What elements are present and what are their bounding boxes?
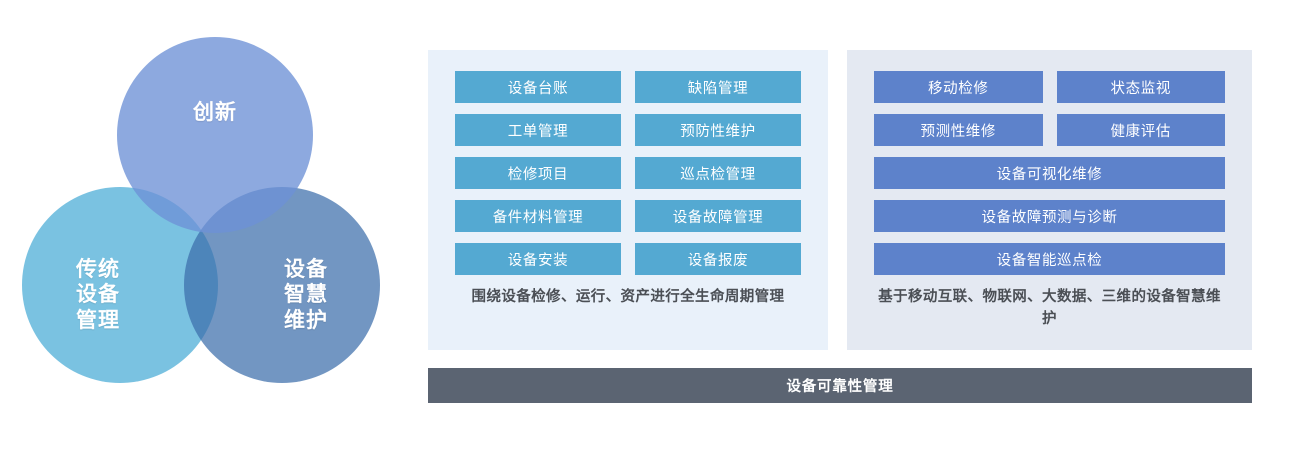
tile-row: 工单管理 预防性维护: [455, 114, 801, 146]
tile-work-order-management[interactable]: 工单管理: [455, 114, 621, 146]
tile-condition-monitoring[interactable]: 状态监视: [1057, 71, 1226, 103]
tile-row: 设备安装 设备报废: [455, 243, 801, 275]
tile-row: 设备故障预测与诊断: [874, 200, 1225, 232]
panel-caption-smart: 基于移动互联、物联网、大数据、三维的设备智慧维护: [874, 287, 1225, 331]
tile-overhaul-project[interactable]: 检修项目: [455, 157, 621, 189]
tile-row: 移动检修 状态监视: [874, 71, 1225, 103]
tile-spare-parts-material-management[interactable]: 备件材料管理: [455, 200, 621, 232]
venn-circle-label-innovation: 创新: [193, 100, 237, 126]
bottom-bar-equipment-reliability-management: 设备可靠性管理: [428, 368, 1252, 403]
tile-equipment-installation[interactable]: 设备安装: [455, 243, 621, 275]
tile-predictive-maintenance[interactable]: 预测性维修: [874, 114, 1043, 146]
tile-equipment-fault-management[interactable]: 设备故障管理: [635, 200, 801, 232]
tile-row: 备件材料管理 设备故障管理: [455, 200, 801, 232]
tile-row: 设备可视化维修: [874, 157, 1225, 189]
tile-row: 预测性维修 健康评估: [874, 114, 1225, 146]
tile-equipment-intelligent-inspection[interactable]: 设备智能巡点检: [874, 243, 1225, 275]
tile-equipment-visual-maintenance[interactable]: 设备可视化维修: [874, 157, 1225, 189]
tile-row: 设备智能巡点检: [874, 243, 1225, 275]
panel-traditional-equipment-management: 设备台账 缺陷管理 工单管理 预防性维护 检修项目 巡点检管理 备件材料管理 设…: [428, 50, 828, 350]
panel-equipment-smart-maintenance: 移动检修 状态监视 预测性维修 健康评估 设备可视化维修 设备故障预测与诊断 设…: [847, 50, 1252, 350]
venn-diagram: 传统 设备 管理 设备 智慧 维护 创新: [0, 0, 420, 451]
bottom-bar-label: 设备可靠性管理: [786, 375, 893, 396]
tile-inspection-management[interactable]: 巡点检管理: [635, 157, 801, 189]
venn-circle-label-smart: 设备 智慧 维护: [284, 257, 328, 334]
tile-defect-management[interactable]: 缺陷管理: [635, 71, 801, 103]
tile-preventive-maintenance[interactable]: 预防性维护: [635, 114, 801, 146]
tile-equipment-scrapping[interactable]: 设备报废: [635, 243, 801, 275]
venn-circle-label-traditional: 传统 设备 管理: [76, 257, 120, 334]
panel-caption-traditional: 围绕设备检修、运行、资产进行全生命周期管理: [455, 287, 801, 309]
tile-equipment-fault-prediction-diagnosis[interactable]: 设备故障预测与诊断: [874, 200, 1225, 232]
tile-row: 设备台账 缺陷管理: [455, 71, 801, 103]
venn-circle-innovation: 创新: [117, 37, 313, 233]
tile-row: 检修项目 巡点检管理: [455, 157, 801, 189]
tile-equipment-ledger[interactable]: 设备台账: [455, 71, 621, 103]
tile-health-assessment[interactable]: 健康评估: [1057, 114, 1226, 146]
tile-mobile-overhaul[interactable]: 移动检修: [874, 71, 1043, 103]
